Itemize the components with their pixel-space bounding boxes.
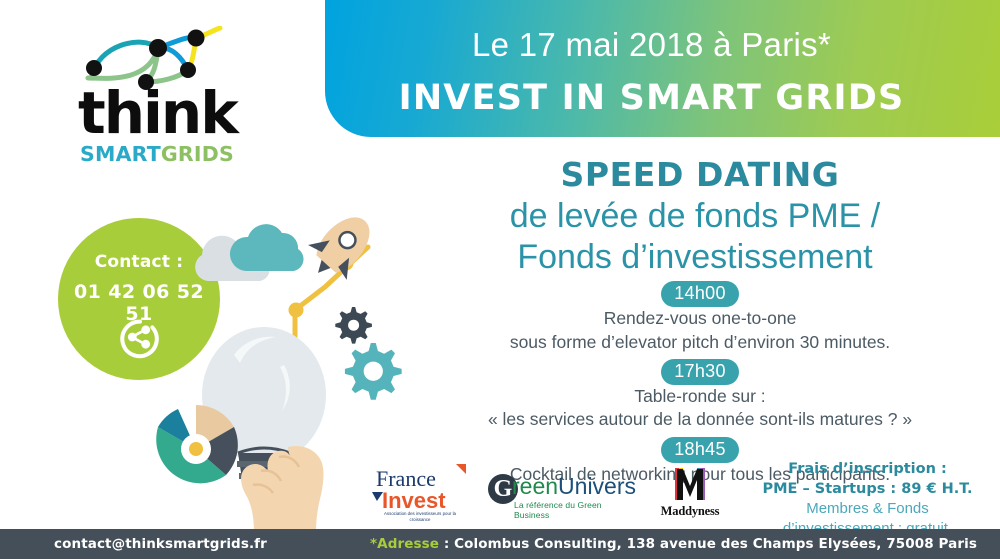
schedule-line: sous forme d’elevator pitch d’environ 30…: [400, 331, 1000, 354]
pricing-line-1: Frais d’inscription :: [735, 460, 1000, 480]
greenunivers-word2: Univers: [558, 473, 636, 499]
logo-grids: GRIDS: [161, 142, 234, 166]
maddyness-m-icon: [673, 466, 707, 502]
page-title: SPEED DATING: [400, 155, 1000, 194]
france-invest-tagline: Association des investisseurs pour la cr…: [378, 511, 462, 523]
partner-logo-france-invest[interactable]: France Invest Association des investisse…: [370, 464, 470, 522]
schedule-line: Table-ronde sur :: [400, 385, 1000, 408]
logo-subwordmark: SMARTGRIDS: [80, 144, 234, 165]
header-banner: Le 17 mai 2018 à Paris* INVEST IN SMART …: [325, 0, 1000, 137]
pricing-line-3: Membres & Fonds: [735, 499, 1000, 519]
greenunivers-wordmark: reenUnivers: [512, 473, 636, 500]
time-badge: 14h00: [661, 281, 739, 307]
maddyness-label: Maddyness: [647, 504, 733, 519]
schedule-item: 17h30 Table-ronde sur : « les services a…: [400, 359, 1000, 432]
footer-address-rest: : Colombus Consulting, 138 avenue des Ch…: [439, 536, 977, 552]
event-date: Le 17 mai 2018 à Paris*: [325, 26, 978, 64]
greenunivers-tagline: La référence du Green Business: [514, 500, 628, 520]
gear-icon: [335, 307, 372, 344]
subtitle-line-1: de levée de fonds PME /: [390, 196, 1000, 237]
footer-address-prefix: *Adresse: [370, 536, 439, 552]
rocket-icon: [299, 203, 384, 290]
page-subtitle: de levée de fonds PME / Fonds d’investis…: [390, 196, 1000, 279]
france-invest-corner-icon: [456, 464, 466, 474]
subtitle-line-2: Fonds d’investissement: [390, 237, 1000, 278]
schedule-list: 14h00 Rendez-vous one-to-one sous forme …: [400, 281, 1000, 486]
event-title: INVEST IN SMART GRIDS: [325, 78, 978, 118]
pie-chart-icon: [156, 405, 238, 483]
pricing-line-2: PME – Startups : 89 € H.T.: [735, 480, 1000, 500]
footer-bar: contact@thinksmartgrids.fr *Adresse : Co…: [0, 529, 1000, 559]
logo-wordmark: think: [78, 84, 237, 142]
footer-address: *Adresse : Colombus Consulting, 138 aven…: [370, 536, 977, 552]
gear-icon: [345, 343, 402, 400]
poster-canvas: think SMARTGRIDS Le 17 mai 2018 à Paris*…: [0, 0, 1000, 559]
schedule-line: Rendez-vous one-to-one: [400, 307, 1000, 330]
partner-logo-maddyness[interactable]: Maddyness: [647, 466, 733, 522]
schedule-item: 14h00 Rendez-vous one-to-one sous forme …: [400, 281, 1000, 354]
greenunivers-word1: reen: [512, 473, 558, 499]
footer-email[interactable]: contact@thinksmartgrids.fr: [54, 536, 267, 552]
time-badge: 18h45: [661, 437, 739, 463]
logo-smart: SMART: [80, 142, 161, 166]
partner-logo-greenunivers[interactable]: G reenUnivers La référence du Green Busi…: [488, 472, 628, 516]
schedule-line: « les services autour de la donnée sont-…: [400, 408, 1000, 431]
brand-logo[interactable]: think SMARTGRIDS: [70, 26, 240, 146]
cloud-icon: [195, 224, 303, 281]
time-badge: 17h30: [661, 359, 739, 385]
pricing-block: Frais d’inscription : PME – Startups : 8…: [735, 460, 1000, 538]
partner-logos: France Invest Association des investisse…: [370, 462, 730, 524]
